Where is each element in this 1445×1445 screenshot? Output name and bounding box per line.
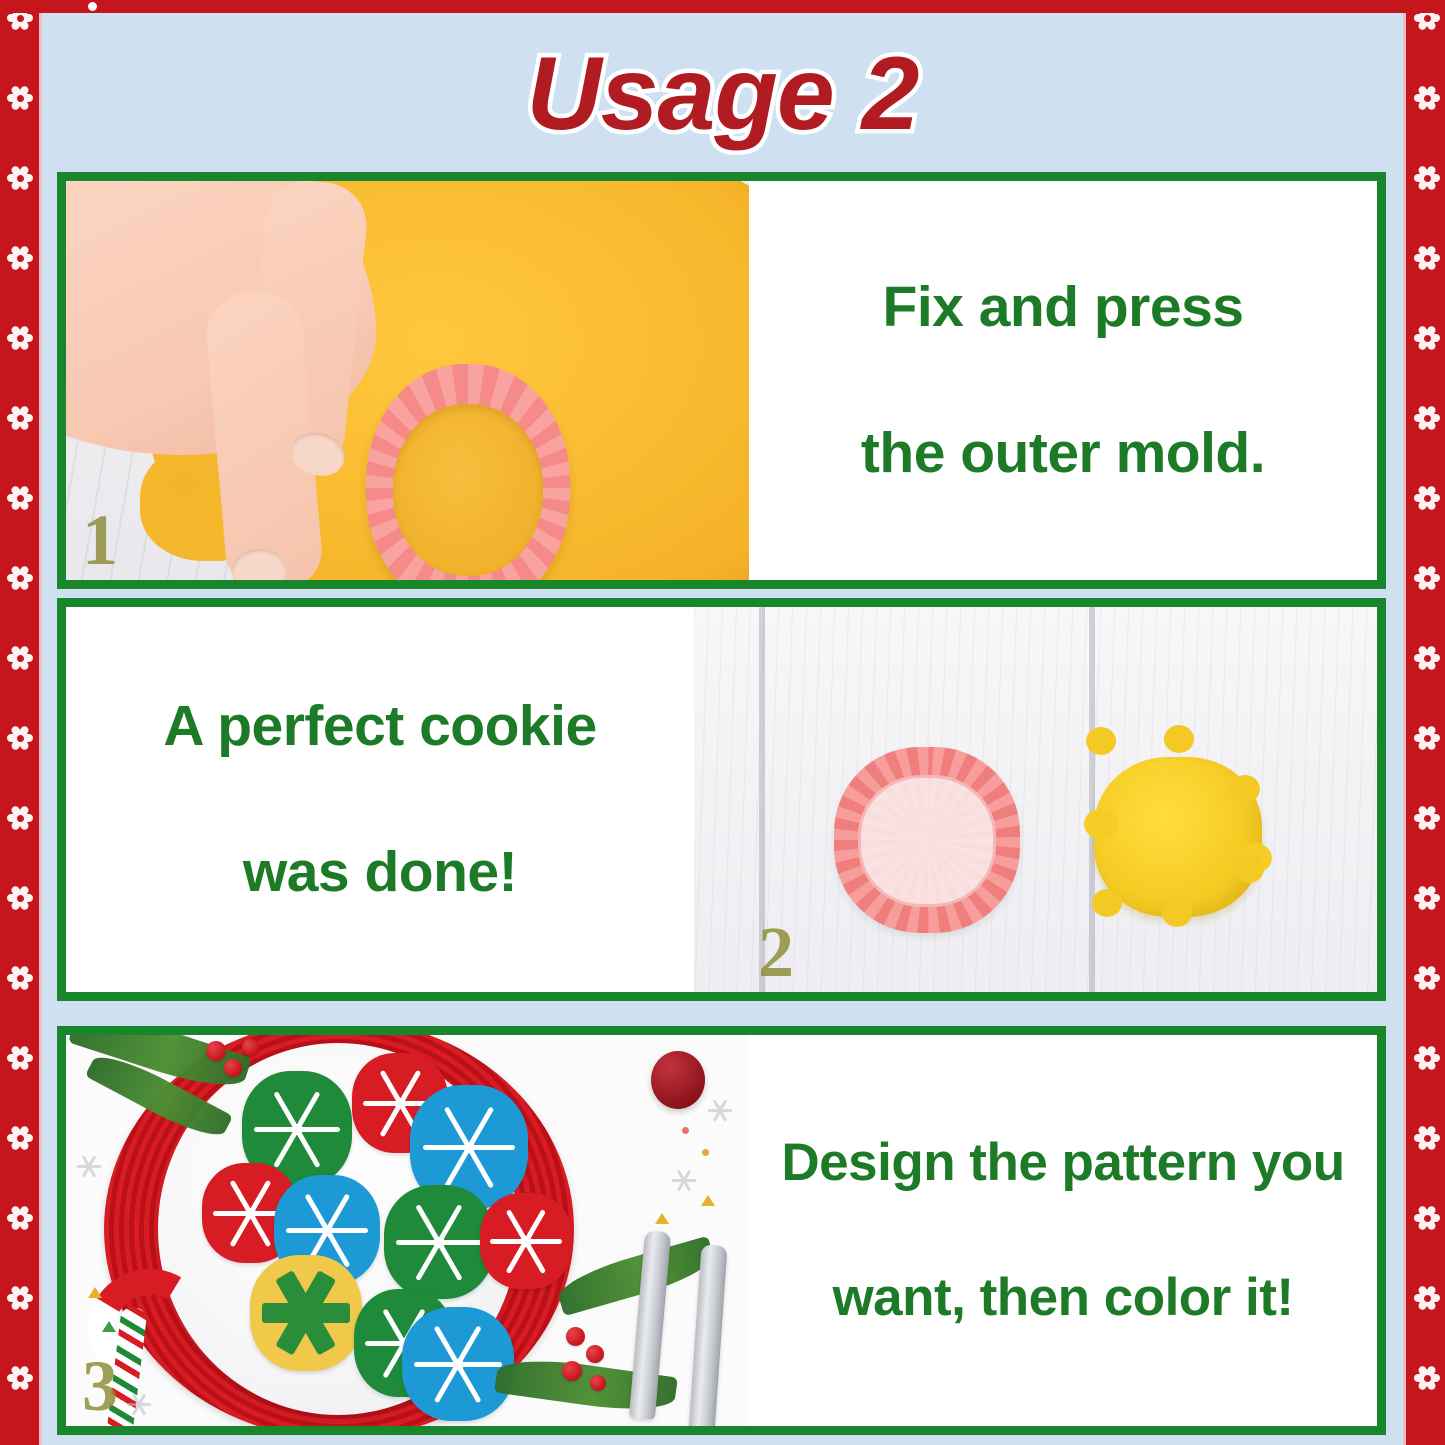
cookie-blue-snowflake: [402, 1307, 514, 1421]
star-confetti: [655, 1213, 669, 1224]
berry: [562, 1361, 582, 1381]
snowflake-icon: [5, 1363, 35, 1393]
berry: [242, 1039, 259, 1056]
caption-3-line2: want, then color it!: [781, 1264, 1344, 1332]
snowflake-icon: [671, 1167, 697, 1193]
caption-1-line2: the outer mold.: [861, 417, 1265, 490]
right-border-band: [1403, 13, 1445, 1445]
snowflake-icon: [5, 163, 35, 193]
step-panel-1: 1 Fix and pressthe outer mold.: [57, 172, 1386, 589]
caption-2-line1: A perfect cookie: [163, 690, 596, 763]
step-number-3: 3: [82, 1350, 118, 1422]
snowflake-icon: [1412, 483, 1442, 513]
snowflake-icon: [5, 1043, 35, 1073]
caption-1-text: Fix and pressthe outer mold.: [861, 271, 1265, 490]
snowflake-icon: [1412, 243, 1442, 273]
snowflake-icon: [1412, 1123, 1442, 1153]
caption-3-line1: Design the pattern you: [781, 1129, 1344, 1197]
snowflake-icon: [1412, 883, 1442, 913]
snowflake-icon: [384, 1185, 494, 1299]
snowflake-icon: [1412, 163, 1442, 193]
hand: [66, 181, 486, 580]
cookie-green-snowflake: [384, 1185, 494, 1299]
infographic-page: Usage 2: [0, 0, 1445, 1445]
photo-decorated-cookies-on-plate: 3: [66, 1035, 749, 1426]
snowflake-icon: [5, 403, 35, 433]
snowflake-icon: [1412, 1283, 1442, 1313]
snowflake-icon: [126, 1391, 152, 1417]
cookie-edge: [1086, 727, 1116, 755]
snowflake-icon: [76, 1153, 102, 1179]
cookie-red-snowflake: [480, 1193, 572, 1289]
snowflake-icon: [1412, 963, 1442, 993]
snowflake-icon: [5, 963, 35, 993]
step-number-2: 2: [758, 916, 794, 988]
snowflake-icon: [1412, 563, 1442, 593]
snowflake-icon: [5, 1203, 35, 1233]
snowflake-icon: [5, 83, 35, 113]
confetti-dot: [682, 1127, 689, 1134]
star-pattern-icon: [250, 1255, 362, 1371]
snowflake-icon: [707, 1097, 733, 1123]
snowflake-icon: [1412, 403, 1442, 433]
snowflake-icon: [5, 563, 35, 593]
berry: [590, 1375, 606, 1391]
snowflake-icon: [5, 723, 35, 753]
cookie-cutter: [834, 747, 1020, 933]
snowflake-icon: [1412, 1043, 1442, 1073]
cutter-opening: [858, 775, 996, 907]
snowflake-icon: [5, 483, 35, 513]
pine-branch: [554, 1236, 718, 1317]
snowflake-icon: [480, 1193, 572, 1289]
dot-icon: [88, 2, 97, 11]
christmas-ornament: [651, 1051, 705, 1109]
snowflake-icon: [5, 1123, 35, 1153]
snowflake-icon: [1412, 323, 1442, 353]
step-number-1: 1: [82, 504, 118, 576]
cookie-edge: [1092, 889, 1122, 917]
snowflake-icon: [5, 803, 35, 833]
photo-cutter-and-cookie: 2: [694, 607, 1377, 992]
caption-2-text: A perfect cookiewas done!: [163, 690, 596, 909]
snowflake-icon: [5, 323, 35, 353]
caption-1-line1: Fix and press: [861, 271, 1265, 344]
cookie-edge: [1234, 855, 1264, 883]
photo-hand-pressing-cutter: 1: [66, 181, 749, 580]
wood-planks: [694, 607, 1377, 992]
caption-3-text: Design the pattern youwant, then color i…: [781, 1129, 1344, 1332]
snowflake-icon: [5, 1283, 35, 1313]
cookie-edge: [1162, 899, 1192, 927]
snowflake-icon: [5, 883, 35, 913]
caption-3: Design the pattern youwant, then color i…: [749, 1035, 1377, 1426]
snowflake-icon: [5, 643, 35, 673]
snowflake-icon: [1412, 723, 1442, 753]
step-panel-3: 3 Design the pattern youwant, then color…: [57, 1026, 1386, 1435]
caption-2: A perfect cookiewas done!: [66, 607, 694, 992]
confetti-dot: [702, 1149, 709, 1156]
snowflake-icon: [5, 243, 35, 273]
berry: [206, 1041, 226, 1061]
star-confetti: [701, 1195, 715, 1206]
snowflake-icon: [1412, 83, 1442, 113]
snowflake-icon: [1412, 1363, 1442, 1393]
left-border-band: [0, 13, 42, 1445]
berry: [224, 1059, 242, 1077]
caption-1: Fix and pressthe outer mold.: [749, 181, 1377, 580]
berry: [566, 1327, 585, 1346]
content-area: Usage 2: [42, 13, 1403, 1445]
cookie-yellow-star: [250, 1255, 362, 1371]
cookie-edge: [1230, 775, 1260, 803]
star-confetti: [88, 1287, 102, 1298]
caption-2-line2: was done!: [163, 836, 596, 909]
snowflake-icon: [1412, 803, 1442, 833]
snowflake-icon: [5, 13, 35, 33]
snowflake-icon: [1412, 643, 1442, 673]
snowflake-icon: [1412, 13, 1442, 33]
step-panel-2: A perfect cookiewas done! 2: [57, 598, 1386, 1001]
star-confetti: [102, 1321, 116, 1332]
top-border-band: [0, 0, 1445, 13]
page-title: Usage 2: [42, 35, 1403, 155]
cookie-edge: [1164, 725, 1194, 753]
berry: [586, 1345, 604, 1363]
snowflake-icon: [1412, 1203, 1442, 1233]
snowflake-icon: [402, 1307, 514, 1421]
